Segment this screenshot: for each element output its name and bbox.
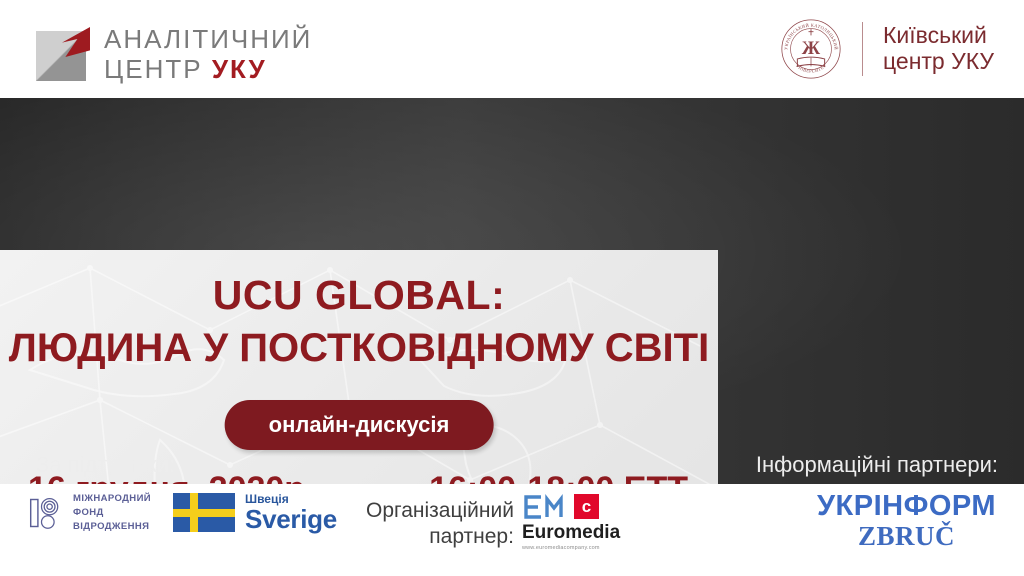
euromedia-name: Euromedia bbox=[522, 522, 620, 544]
poster-footer: МІЖНАРОДНИЙ ФОНД ВІДРОДЖЕННЯ Швеція Sver… bbox=[0, 484, 1024, 576]
organizational-partner-label: Організаційний партнер: bbox=[366, 494, 514, 549]
analytical-center-line2-prefix: ЦЕНТР bbox=[104, 54, 212, 84]
org-partner-label-line2: партнер: bbox=[366, 524, 514, 550]
svg-text:Ж: Ж bbox=[802, 38, 821, 59]
event-format-badge: онлайн-дискусія bbox=[225, 400, 494, 450]
analytical-center-ucu-logo: АНАЛІТИЧНИЙ ЦЕНТР УКУ bbox=[36, 26, 312, 82]
logo-divider bbox=[862, 22, 863, 76]
irf-line2: ФОНД bbox=[73, 506, 151, 520]
support-label: За підтримки: bbox=[36, 452, 175, 478]
zbruc-logo: ZBRUČ bbox=[817, 523, 996, 550]
poster-header: АНАЛІТИЧНИЙ ЦЕНТР УКУ УКРАЇНСЬКИЙ КАТОЛИ… bbox=[0, 0, 1024, 98]
irf-logo: МІЖНАРОДНИЙ ФОНД ВІДРОДЖЕННЯ bbox=[28, 492, 151, 533]
sweden-wordmark: Швеція Sverige bbox=[245, 493, 337, 532]
info-partners-label: Інформаційні партнери: bbox=[756, 452, 998, 478]
euromedia-logo: c Euromedia www.euromediacompany.com bbox=[522, 494, 620, 551]
info-partner-logos: УКРІНФОРМ ZBRUČ bbox=[817, 492, 996, 550]
content-panel: UCU GLOBAL: ЛЮДИНА У ПОСТКОВІДНОМУ СВІТІ… bbox=[0, 250, 718, 484]
irf-wordmark: МІЖНАРОДНИЙ ФОНД ВІДРОДЖЕННЯ bbox=[73, 492, 151, 533]
ucu-kyiv-line1: Київський bbox=[883, 23, 994, 49]
org-partner-label-line1: Організаційний bbox=[366, 498, 514, 524]
irf-line1: МІЖНАРОДНИЙ bbox=[73, 492, 151, 506]
euromedia-em-mark-icon bbox=[522, 494, 570, 520]
euromedia-c-badge: c bbox=[574, 494, 599, 519]
irf-mark-icon bbox=[28, 495, 64, 531]
ukrinform-logo: УКРІНФОРМ bbox=[817, 492, 996, 521]
hero-banner: UCU GLOBAL: ЛЮДИНА У ПОСТКОВІДНОМУ СВІТІ… bbox=[0, 98, 1024, 484]
irf-line3: ВІДРОДЖЕННЯ bbox=[73, 520, 151, 534]
supporter-logos: МІЖНАРОДНИЙ ФОНД ВІДРОДЖЕННЯ Швеція Sver… bbox=[28, 492, 337, 533]
event-time: 16:00-18:00 ETT bbox=[429, 470, 688, 484]
ucu-kyiv-center-logo: УКРАЇНСЬКИЙ КАТОЛИЦЬКИЙ УНІВЕРСИТЕТ Ж Ки… bbox=[780, 18, 994, 80]
ucu-kyiv-line2: центр УКУ bbox=[883, 49, 994, 75]
event-poster: АНАЛІТИЧНИЙ ЦЕНТР УКУ УКРАЇНСЬКИЙ КАТОЛИ… bbox=[0, 0, 1024, 576]
ucu-seal-icon: УКРАЇНСЬКИЙ КАТОЛИЦЬКИЙ УНІВЕРСИТЕТ Ж bbox=[780, 18, 842, 80]
analytical-center-line2-accent: УКУ bbox=[212, 54, 267, 84]
event-title-line1: UCU GLOBAL: bbox=[0, 274, 718, 317]
organizational-partner: Організаційний партнер: c Euromedia www.… bbox=[366, 494, 620, 551]
sweden-logo: Швеція Sverige bbox=[173, 493, 337, 532]
event-title-line2: ЛЮДИНА У ПОСТКОВІДНОМУ СВІТІ bbox=[0, 327, 718, 369]
analytical-center-wordmark: АНАЛІТИЧНИЙ ЦЕНТР УКУ bbox=[104, 26, 312, 82]
event-title: UCU GLOBAL: ЛЮДИНА У ПОСТКОВІДНОМУ СВІТІ bbox=[0, 274, 718, 369]
sweden-line2: Sverige bbox=[245, 506, 337, 532]
euromedia-url: www.euromediacompany.com bbox=[522, 545, 620, 551]
ucu-kyiv-wordmark: Київський центр УКУ bbox=[883, 23, 994, 75]
analytical-center-mark-icon bbox=[36, 27, 90, 81]
analytical-center-line2: ЦЕНТР УКУ bbox=[104, 56, 312, 82]
analytical-center-line1: АНАЛІТИЧНИЙ bbox=[104, 26, 312, 52]
sweden-flag-icon bbox=[173, 493, 235, 532]
